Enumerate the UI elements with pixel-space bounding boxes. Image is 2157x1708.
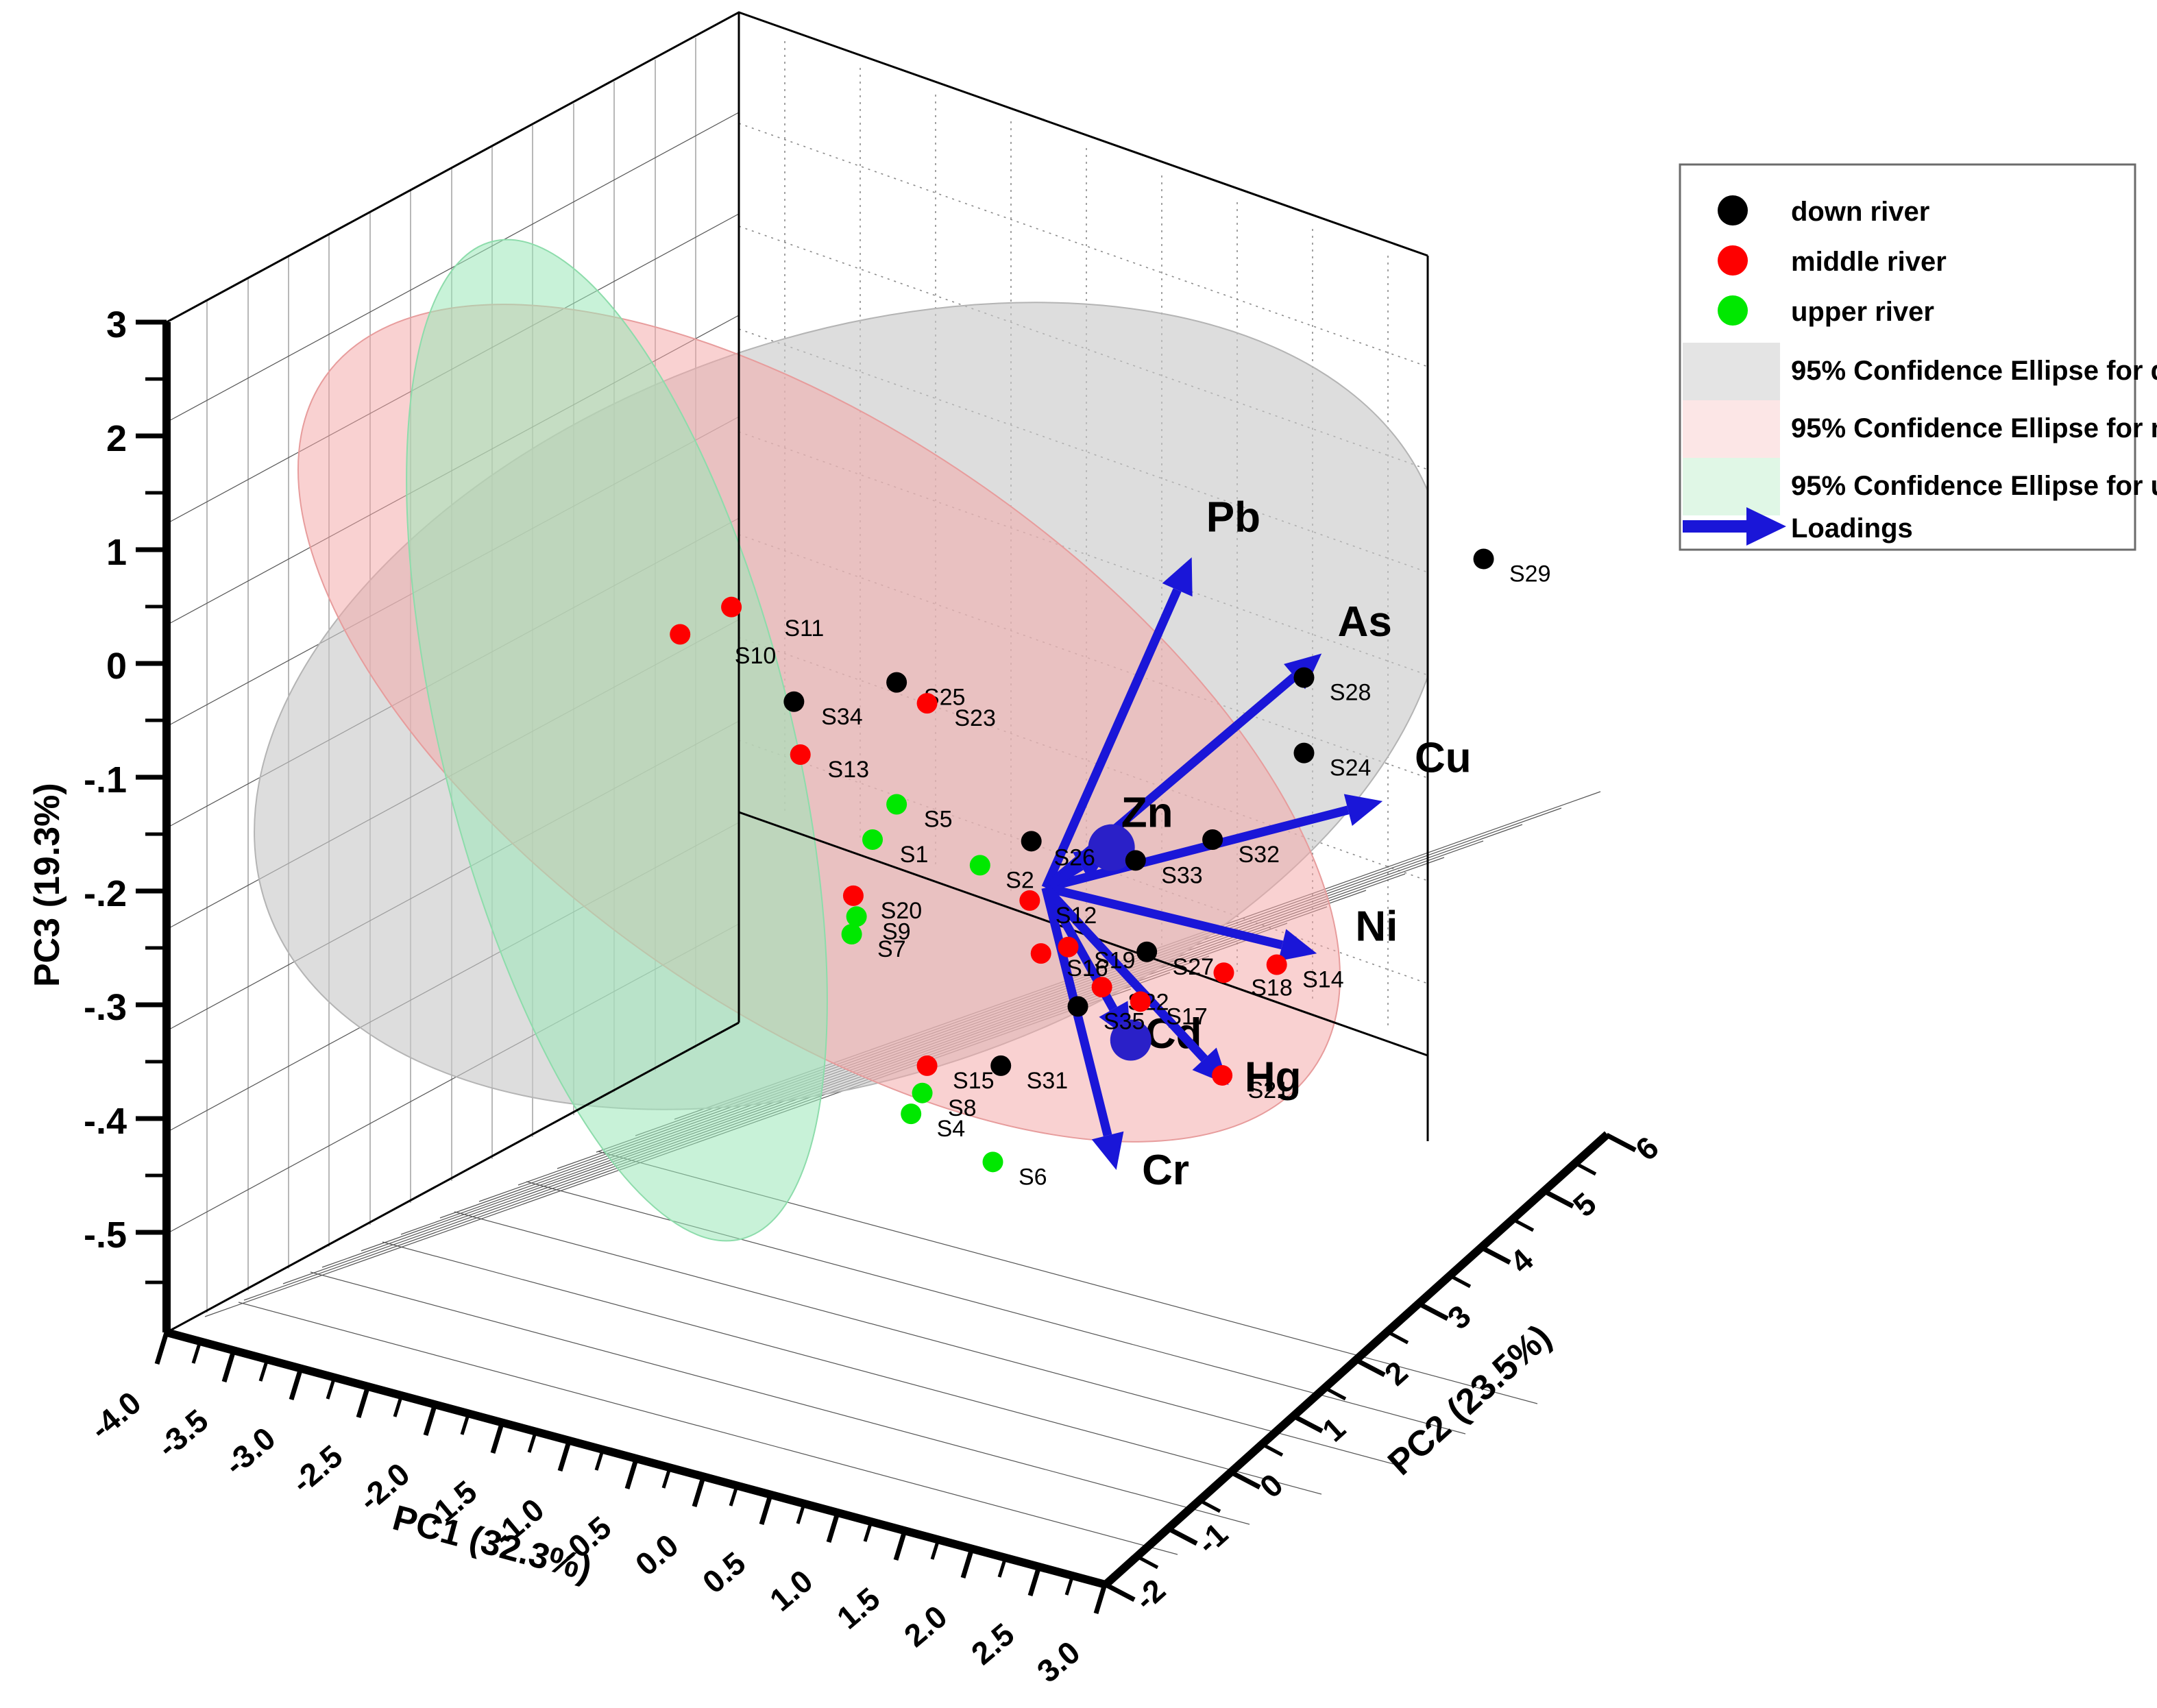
data-point-marker: [1136, 942, 1157, 962]
data-point-marker: [1293, 743, 1314, 764]
data-point-marker: [886, 672, 907, 693]
legend-label-middle-river[interactable]: middle river: [1791, 247, 1947, 277]
data-point-marker: [1019, 890, 1040, 911]
legend-label-ellipse-down[interactable]: 95% Confidence Ellipse for down: [1791, 356, 2157, 386]
data-point-label: S11: [784, 615, 824, 642]
data-point-marker: [1267, 955, 1287, 975]
svg-text:0: 0: [106, 646, 127, 687]
data-point-label: S15: [953, 1068, 995, 1094]
data-point-label: S13: [828, 757, 870, 783]
data-point-label: S14: [1302, 967, 1344, 993]
pc3-axis-title: PC3 (19.3%): [27, 783, 67, 987]
data-point-label: S27: [1173, 954, 1215, 980]
data-point-marker: [970, 855, 990, 875]
data-point-label: S29: [1509, 561, 1551, 587]
data-point-marker: [721, 597, 742, 618]
svg-text:-.2: -.2: [84, 873, 127, 914]
data-point-marker: [886, 794, 907, 815]
data-point-marker: [1068, 996, 1088, 1016]
loading-label-cr: Cr: [1142, 1147, 1189, 1194]
legend-label-down-river[interactable]: down river: [1791, 197, 1929, 227]
loading-label-as: As: [1338, 598, 1392, 646]
legend-swatch-ellipse-middle: [1683, 400, 1780, 458]
data-point-marker: [783, 692, 804, 712]
data-point-label: S33: [1161, 862, 1203, 888]
data-point-marker: [842, 924, 862, 944]
data-point-label: S32: [1239, 842, 1280, 868]
data-point-marker: [1021, 831, 1042, 851]
data-point-marker: [843, 886, 864, 906]
data-point-marker: [1213, 962, 1234, 983]
data-point-marker: [846, 906, 867, 927]
data-point-marker: [790, 744, 811, 765]
svg-text:3: 3: [106, 304, 127, 345]
data-point-marker: [990, 1056, 1011, 1076]
loading-label-zn: Zn: [1121, 789, 1173, 836]
data-point-label: S17: [1166, 1003, 1208, 1029]
data-point-label: S12: [1056, 903, 1097, 929]
data-point-label: S21: [1248, 1077, 1290, 1103]
data-point-label: S7: [877, 936, 906, 962]
data-point-marker: [862, 829, 883, 850]
data-point-label: S18: [1251, 975, 1293, 1001]
data-point-marker: [1125, 850, 1146, 870]
legend-marker-down-river: [1718, 195, 1748, 225]
legend-label-ellipse-middle[interactable]: 95% Confidence Ellipse for middle: [1791, 413, 2157, 443]
data-point-marker: [1474, 548, 1494, 569]
data-point-marker: [1202, 829, 1223, 850]
data-point-marker: [670, 624, 690, 644]
pca-biplot-figure: 3 2 1 0 -.1 -.2 -.3 -.4 -.5 PC3 (19.3%): [0, 0, 2157, 1708]
loading-label-pb: Pb: [1206, 494, 1260, 541]
svg-text:1: 1: [106, 532, 127, 573]
data-point-marker: [912, 1083, 933, 1103]
data-point-label: S28: [1330, 680, 1372, 706]
data-point-label: S35: [1104, 1008, 1145, 1034]
data-point-label: S26: [1053, 845, 1095, 871]
data-point-label: S23: [954, 705, 996, 731]
data-point-label: S19: [1094, 947, 1136, 973]
legend-swatch-ellipse-down: [1683, 343, 1780, 400]
data-point-marker: [983, 1151, 1003, 1172]
data-point-marker: [901, 1103, 921, 1124]
data-point-label: S5: [924, 807, 953, 833]
data-point-label: S10: [735, 643, 777, 669]
svg-text:2: 2: [106, 418, 127, 459]
data-point-label: S34: [821, 704, 863, 730]
legend-label-loadings[interactable]: Loadings: [1791, 513, 1913, 544]
data-point-label: S4: [937, 1116, 966, 1142]
legend-label-upper-river[interactable]: upper river: [1791, 297, 1934, 327]
data-point-marker: [917, 693, 938, 713]
data-point-label: S31: [1027, 1068, 1069, 1094]
data-point-label: S24: [1330, 755, 1372, 781]
svg-text:-.4: -.4: [84, 1101, 127, 1142]
legend-swatch-ellipse-upper: [1683, 458, 1780, 515]
loading-label-ni: Ni: [1355, 903, 1398, 950]
data-point-marker: [1092, 977, 1112, 997]
data-point-marker: [1212, 1065, 1232, 1086]
legend-label-ellipse-upper[interactable]: 95% Confidence Ellipse for upper: [1791, 471, 2157, 501]
legend[interactable]: down river middle river upper river 95% …: [1680, 164, 2157, 550]
data-point-label: S1: [900, 842, 929, 868]
svg-text:-.5: -.5: [84, 1215, 127, 1256]
data-point-marker: [1031, 943, 1051, 964]
loading-label-cu: Cu: [1415, 735, 1472, 782]
legend-marker-middle-river: [1718, 245, 1748, 276]
data-point-label: S2: [1006, 867, 1034, 893]
data-point-label: S6: [1019, 1164, 1047, 1190]
data-point-marker: [1058, 937, 1079, 957]
svg-text:-.3: -.3: [84, 987, 127, 1028]
data-point-marker: [1293, 668, 1314, 688]
svg-text:-.1: -.1: [84, 759, 127, 801]
legend-marker-upper-river: [1718, 295, 1748, 326]
data-point-marker: [917, 1056, 938, 1076]
pca-3d-biplot-svg: 3 2 1 0 -.1 -.2 -.3 -.4 -.5 PC3 (19.3%): [0, 0, 2157, 1708]
